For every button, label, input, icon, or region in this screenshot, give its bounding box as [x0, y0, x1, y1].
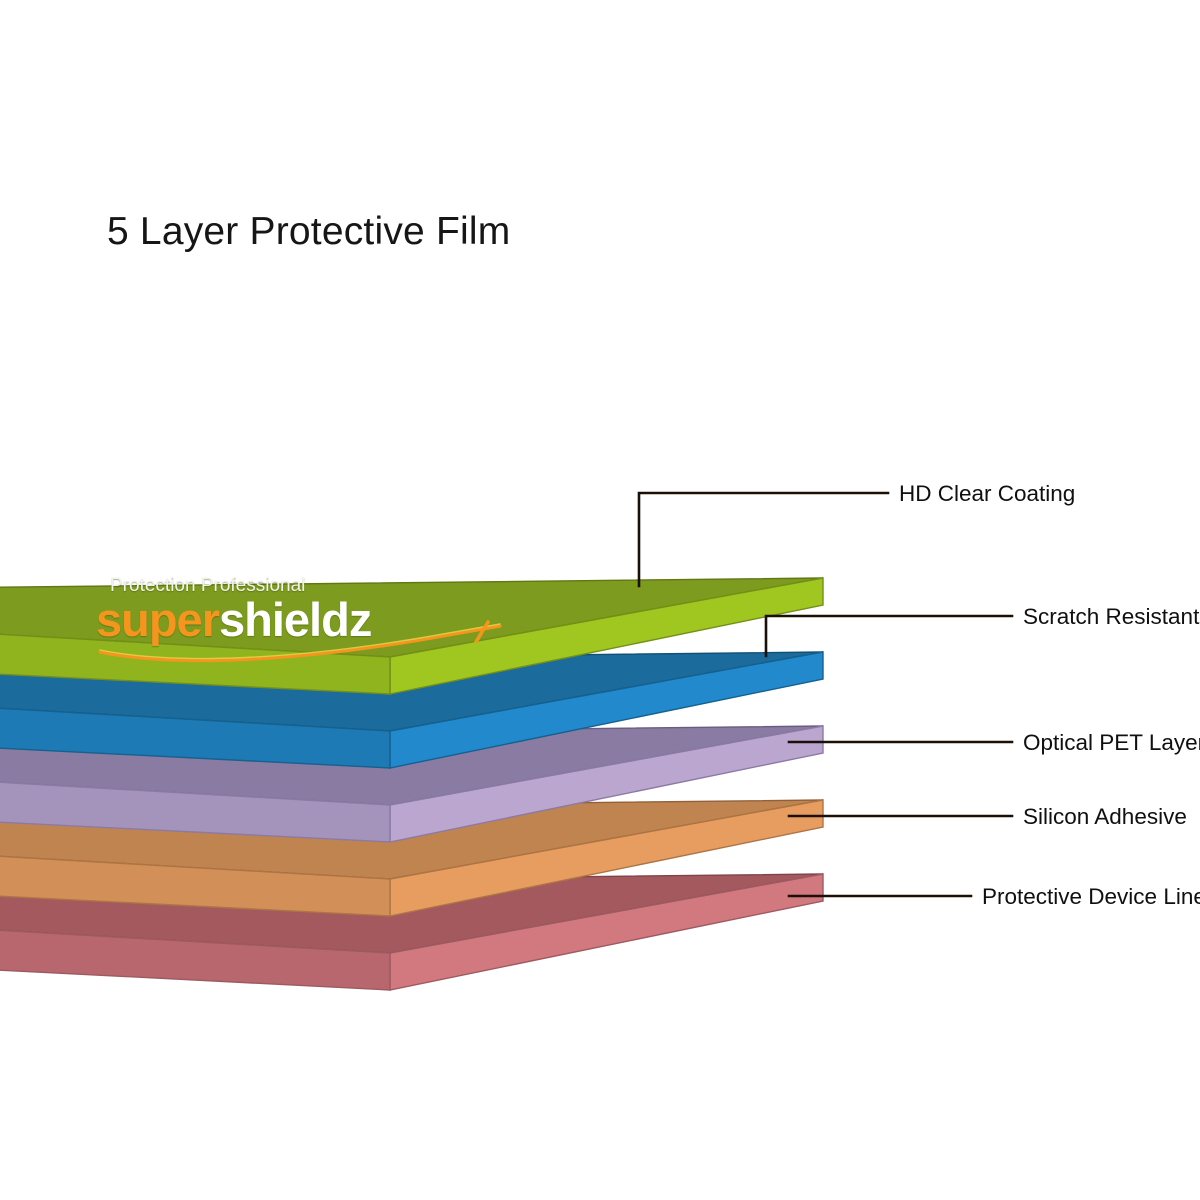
label-protective-device-liner: Protective Device Liner: [982, 884, 1200, 910]
label-hd-clear-coating: HD Clear Coating: [899, 481, 1075, 507]
label-optical-pet-layer: Optical PET Layer: [1023, 730, 1200, 756]
leader-line-hd-clear-coating: [639, 493, 888, 586]
brand-wordmark-shieldz: shieldz: [219, 593, 371, 646]
brand-wordmark: supershieldz: [96, 596, 371, 643]
label-silicon-adhesive: Silicon Adhesive: [1023, 804, 1187, 830]
leader-line-scratch-resistant: [766, 616, 1012, 656]
diagram-canvas: 5 Layer Protective Film: [0, 0, 1200, 1200]
label-scratch-resistant-layer: Scratch Resistant Layer: [1023, 604, 1200, 630]
brand-wordmark-super: super: [96, 593, 219, 646]
